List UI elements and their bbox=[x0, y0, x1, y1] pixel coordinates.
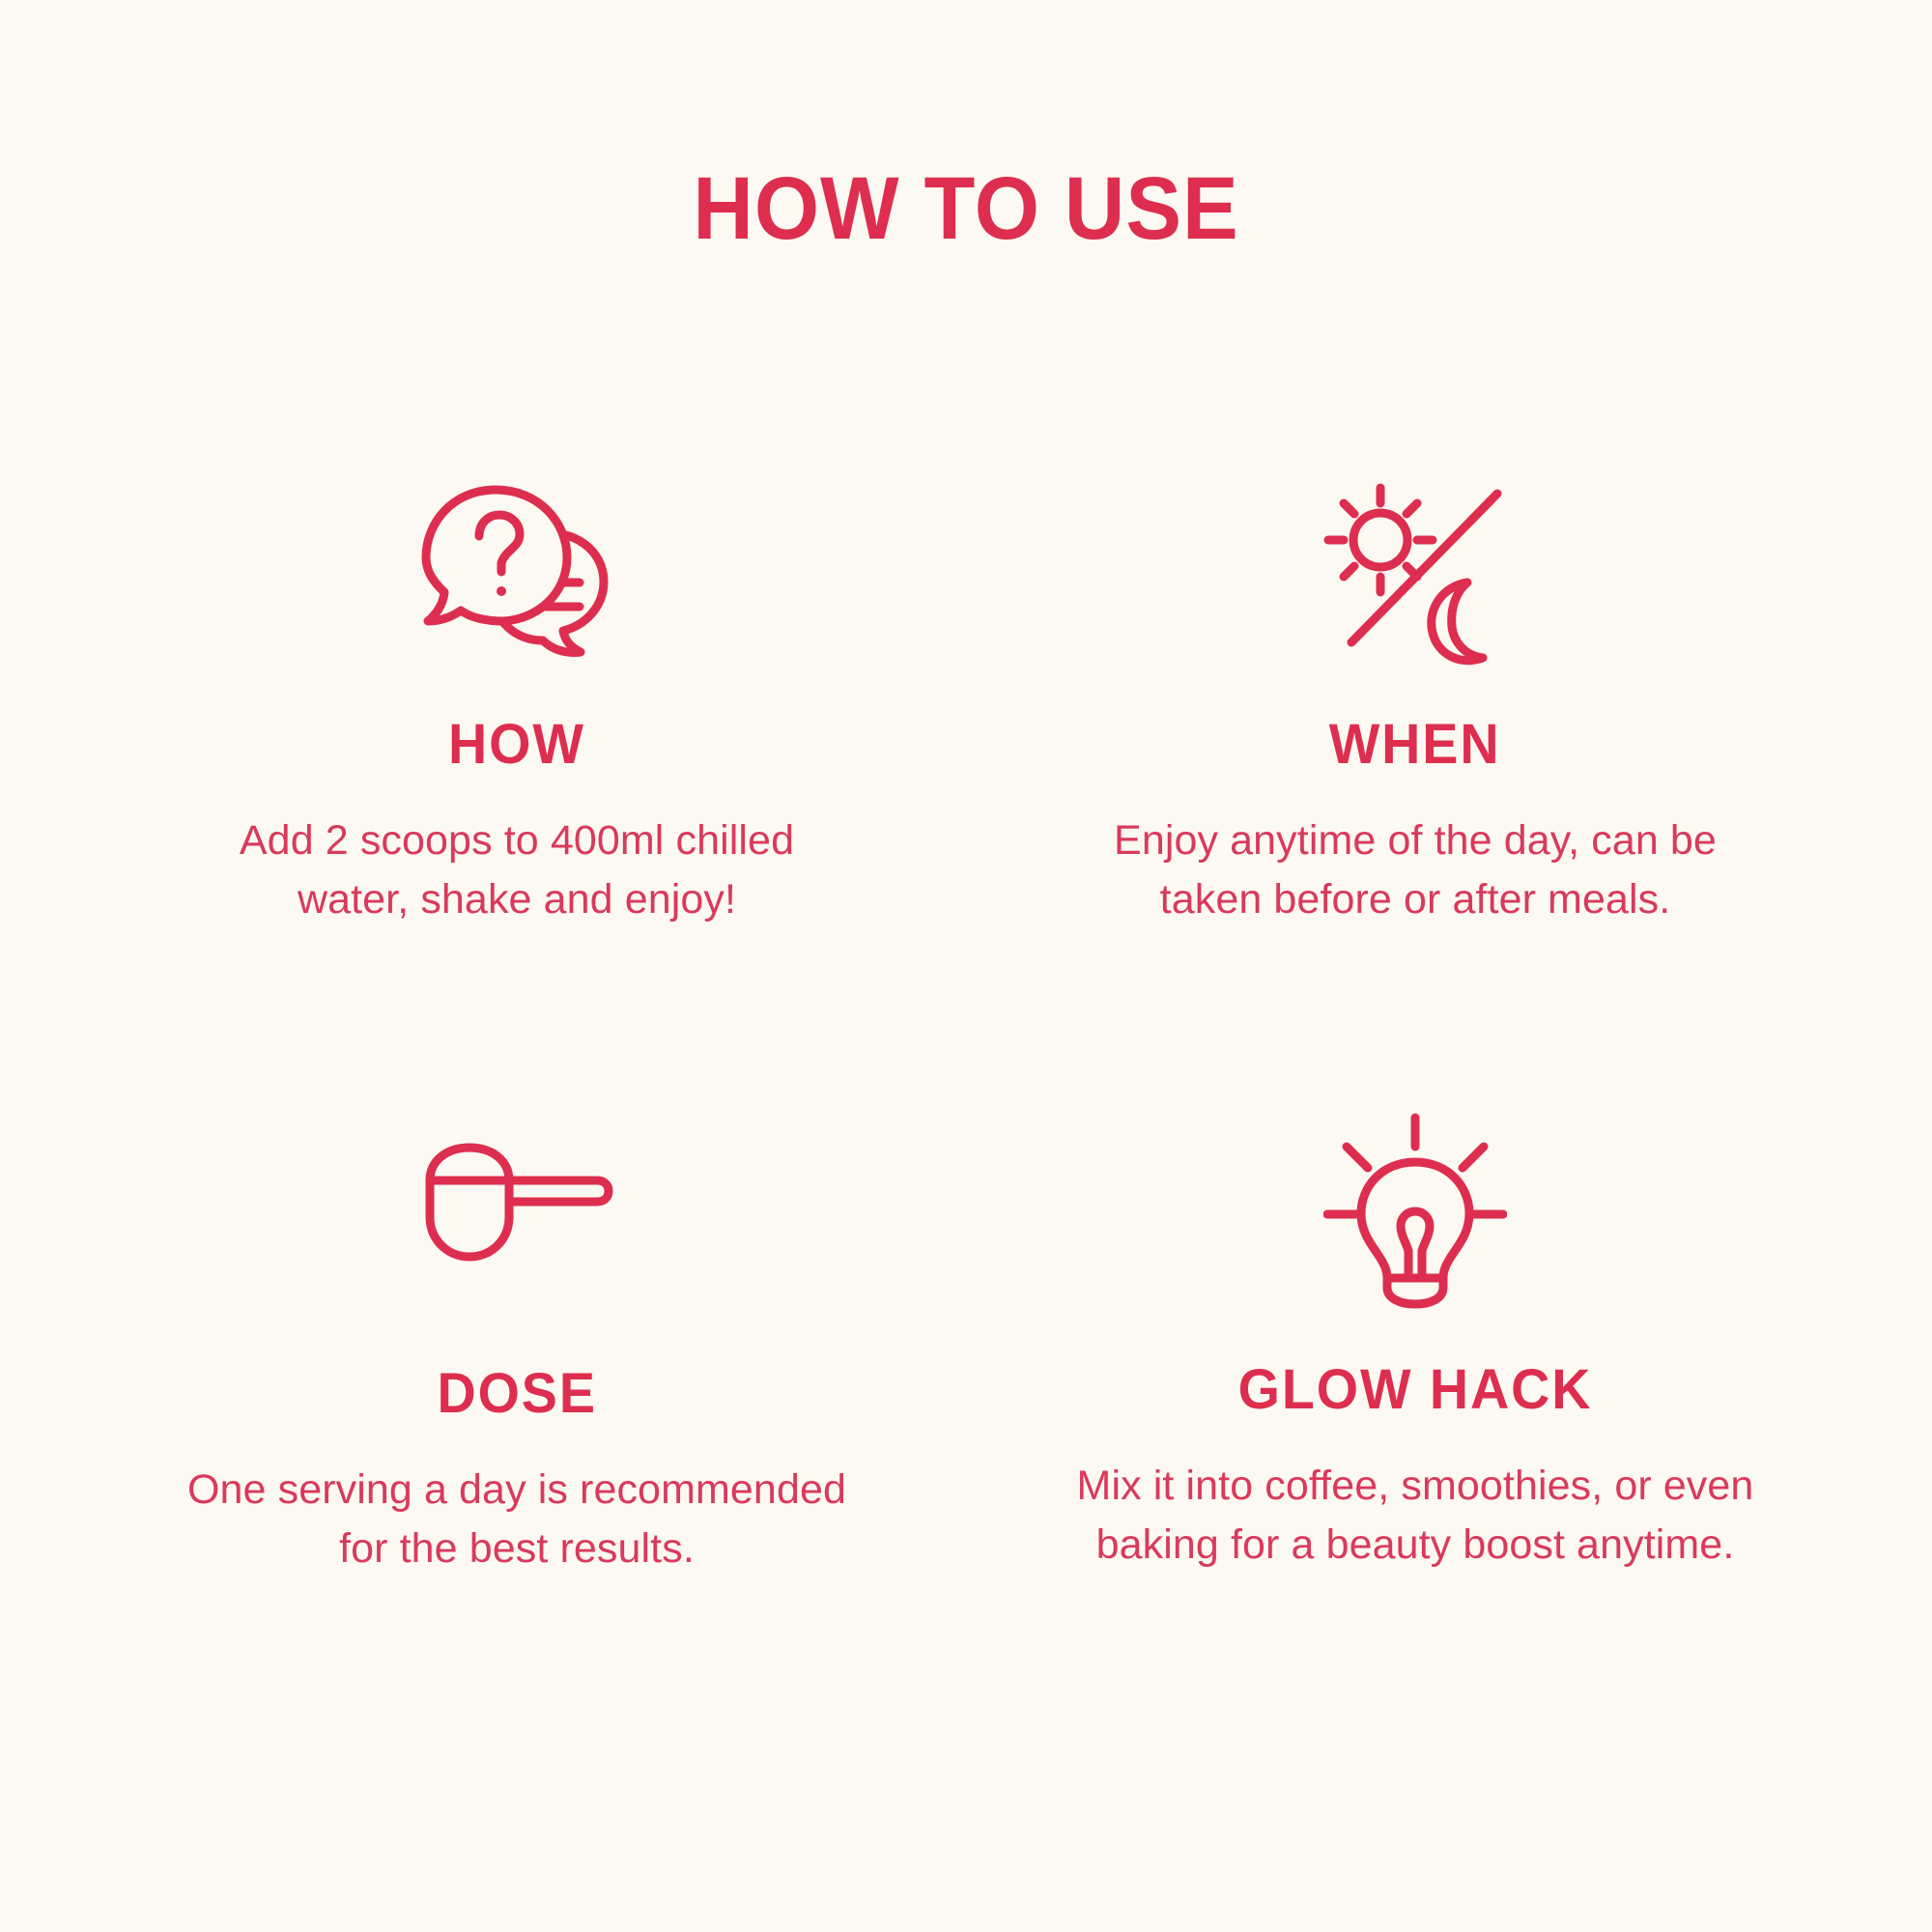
card-body-glow: Mix it into coffee, smoothies, or even b… bbox=[1077, 1457, 1754, 1575]
lightbulb-icon bbox=[1323, 1112, 1507, 1310]
card-title-when: WHEN bbox=[1329, 717, 1501, 773]
measuring-scoop-icon bbox=[420, 1142, 613, 1267]
icon-container-when bbox=[1321, 473, 1510, 676]
sun-moon-icon bbox=[1321, 480, 1510, 669]
how-to-use-infographic: HOW TO USE HOW bbox=[0, 0, 1932, 1932]
card-how: HOW Add 2 scoops to 400ml chilled water,… bbox=[77, 473, 956, 929]
card-title-glow: GLOW HACK bbox=[1238, 1362, 1593, 1418]
card-body-how: Add 2 scoops to 400ml chilled water, sha… bbox=[240, 811, 794, 929]
icon-container-dose bbox=[420, 1109, 613, 1312]
card-dose: DOSE One serving a day is recommended fo… bbox=[77, 1109, 956, 1578]
speech-bubbles-question-icon bbox=[420, 480, 613, 664]
card-when: WHEN Enjoy anytime of the day, can be ta… bbox=[976, 473, 1855, 929]
card-title-dose: DOSE bbox=[437, 1366, 596, 1422]
feature-grid: HOW Add 2 scoops to 400ml chilled water,… bbox=[77, 473, 1855, 1578]
page-title-container: HOW TO USE bbox=[0, 164, 1932, 253]
card-title-how: HOW bbox=[448, 717, 585, 773]
card-glow: GLOW HACK Mix it into coffee, smoothies,… bbox=[976, 1109, 1855, 1578]
page-title: HOW TO USE bbox=[58, 164, 1874, 253]
icon-container-how bbox=[420, 473, 613, 676]
icon-container-glow bbox=[1323, 1109, 1507, 1312]
card-body-dose: One serving a day is recommended for the… bbox=[187, 1461, 846, 1578]
card-body-when: Enjoy anytime of the day, can be taken b… bbox=[1114, 811, 1717, 929]
